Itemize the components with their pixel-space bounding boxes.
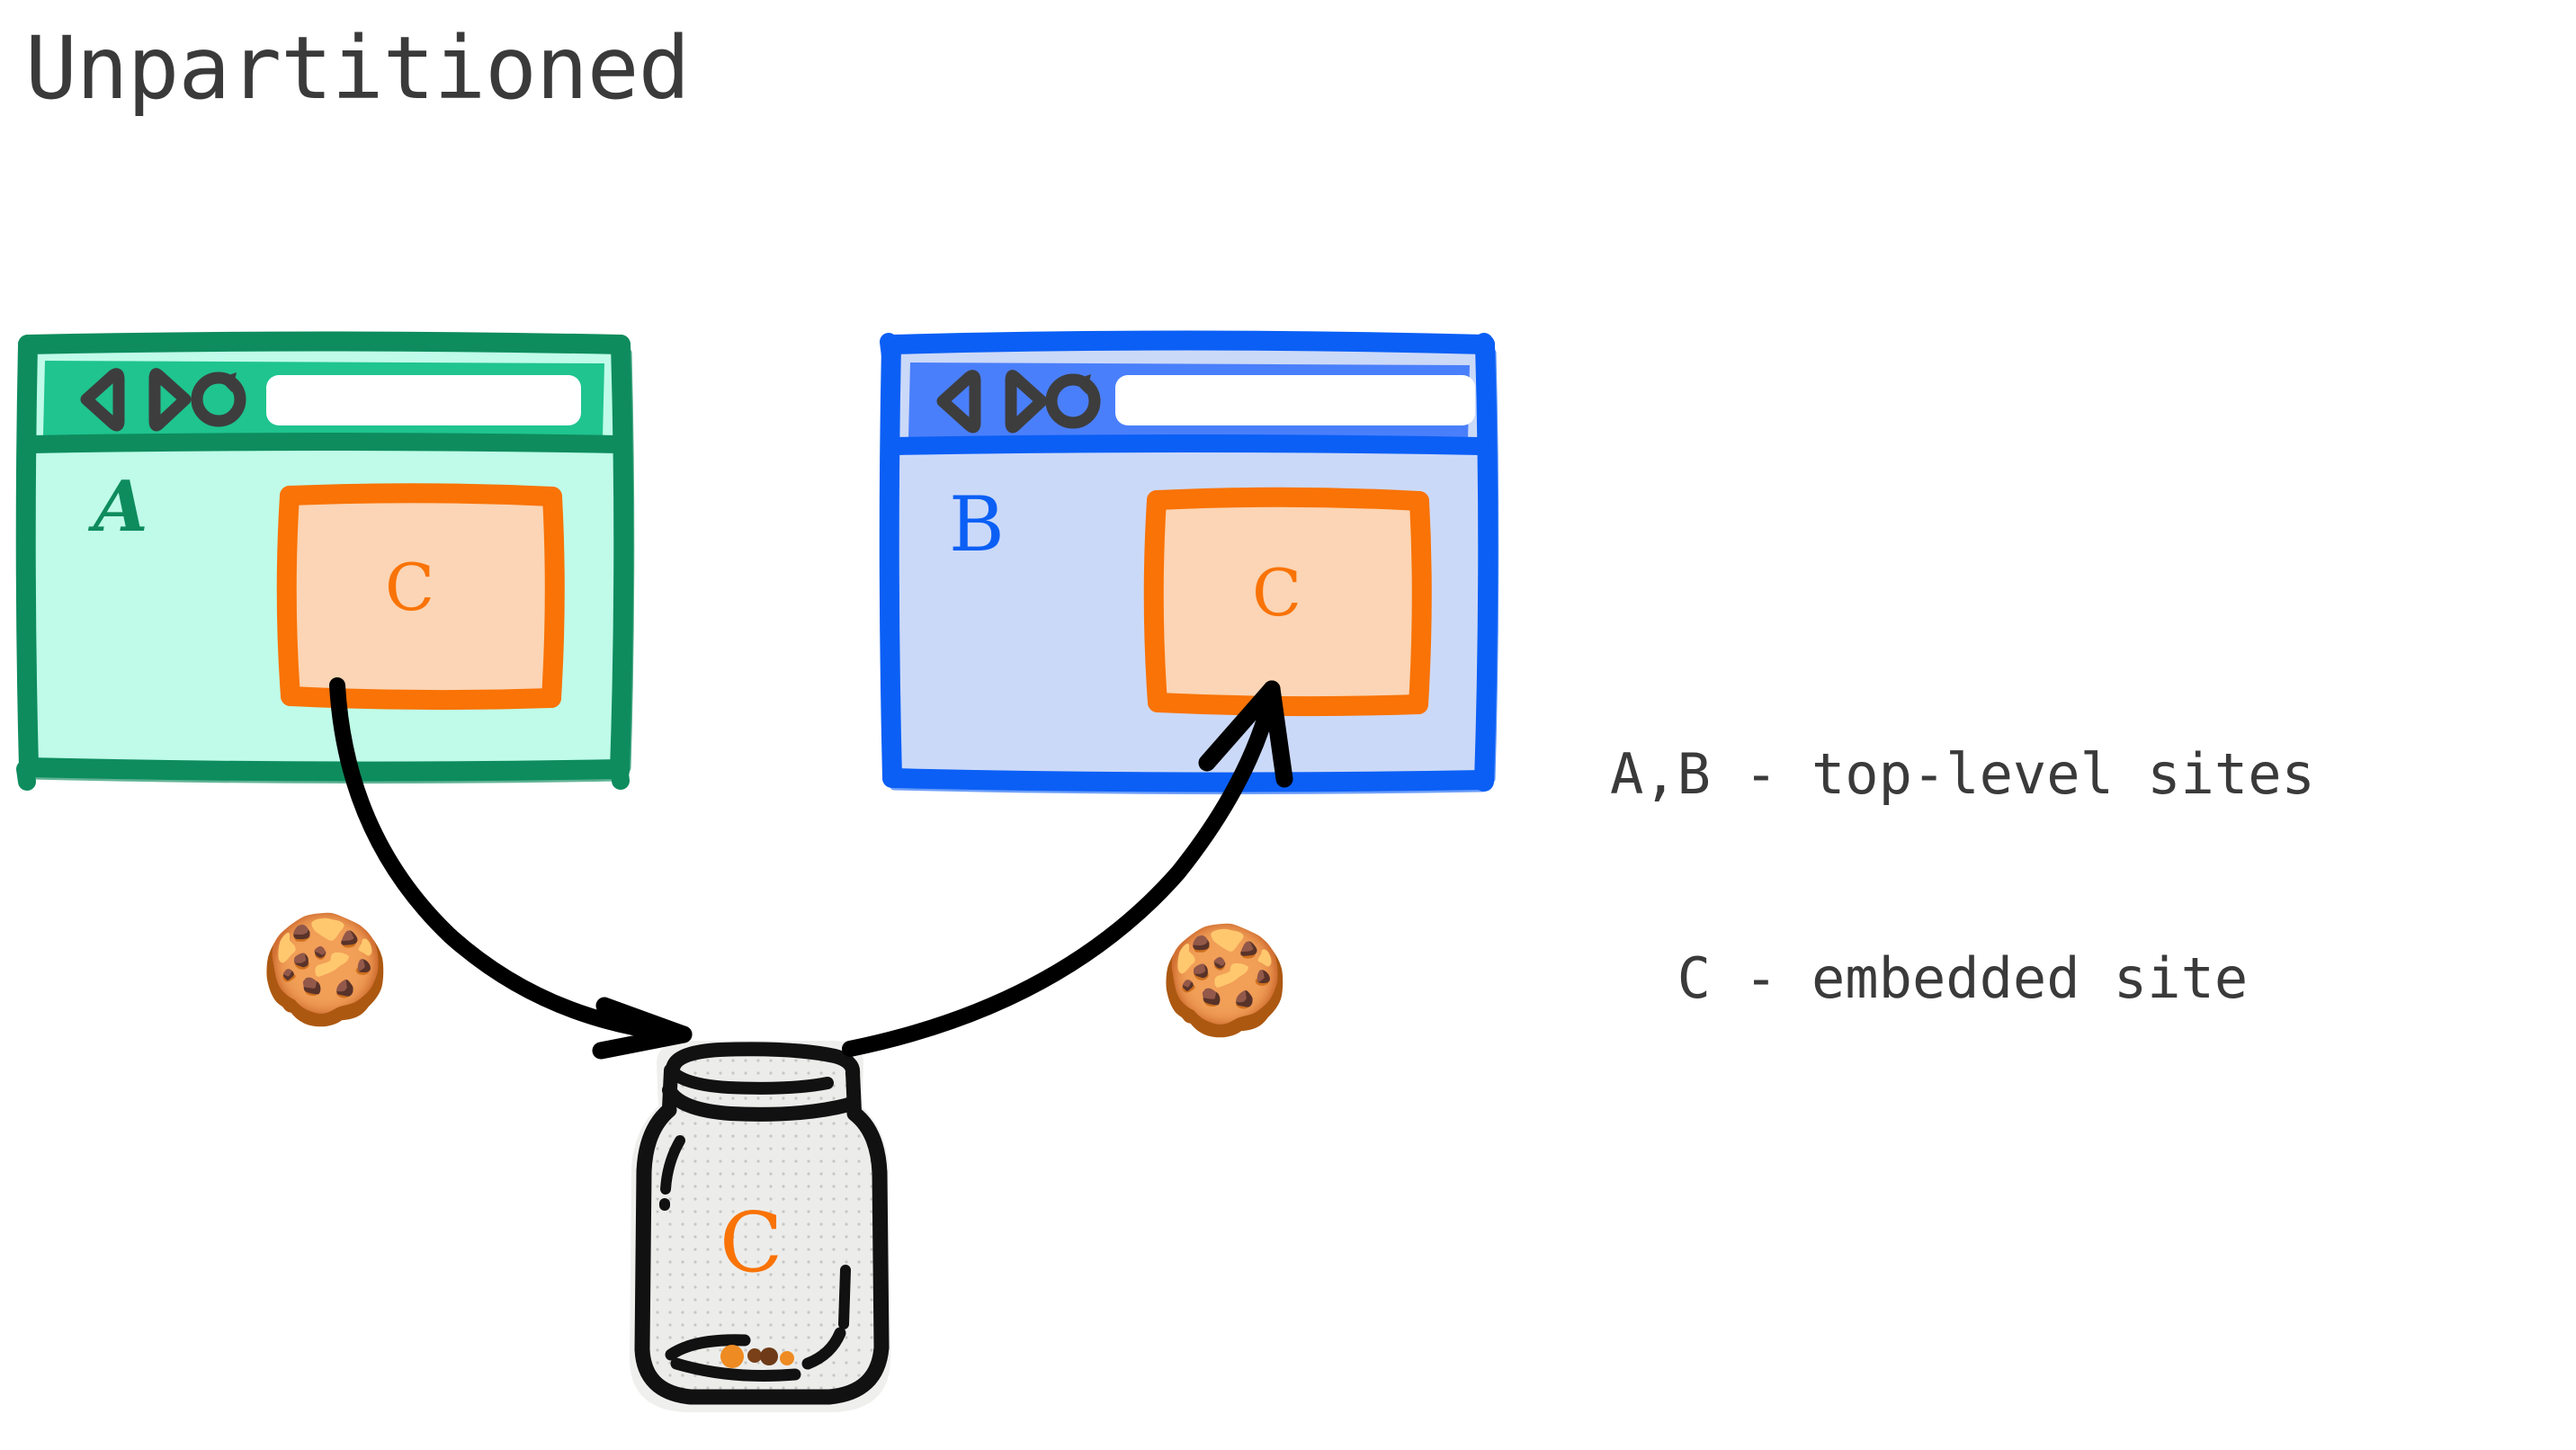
window-a-embedded-site: C bbox=[286, 493, 555, 700]
window-b-site-label: B bbox=[949, 480, 1005, 568]
cookie-left-icon: 🍪 bbox=[259, 916, 391, 1022]
back-arrow-icon[interactable] bbox=[76, 369, 131, 432]
reload-icon[interactable] bbox=[1045, 371, 1105, 434]
reload-icon[interactable] bbox=[191, 369, 250, 432]
cookie-jar-hit-area[interactable] bbox=[630, 1039, 890, 1417]
cookie-right-icon: 🍪 bbox=[1158, 926, 1291, 1033]
window-b-embed-label: C bbox=[1252, 555, 1301, 631]
window-a-site-label: A bbox=[87, 466, 148, 548]
legend: A,B - top-level sites C - embedded site bbox=[1610, 604, 2315, 1149]
page-title: Unpartitioned bbox=[25, 22, 689, 117]
window-a-url-input[interactable] bbox=[266, 375, 581, 425]
window-b-embedded-site: C bbox=[1153, 497, 1422, 706]
window-a-embed-label: C bbox=[385, 550, 434, 625]
window-b-url-input[interactable] bbox=[1115, 375, 1475, 425]
legend-line-embedded: C - embedded site bbox=[1610, 944, 2315, 1013]
diagram-canvas: Unpartitioned A,B - top-level sites C - … bbox=[0, 0, 2576, 1450]
back-arrow-icon[interactable] bbox=[932, 371, 988, 434]
legend-line-top-level: A,B - top-level sites bbox=[1610, 740, 2315, 809]
